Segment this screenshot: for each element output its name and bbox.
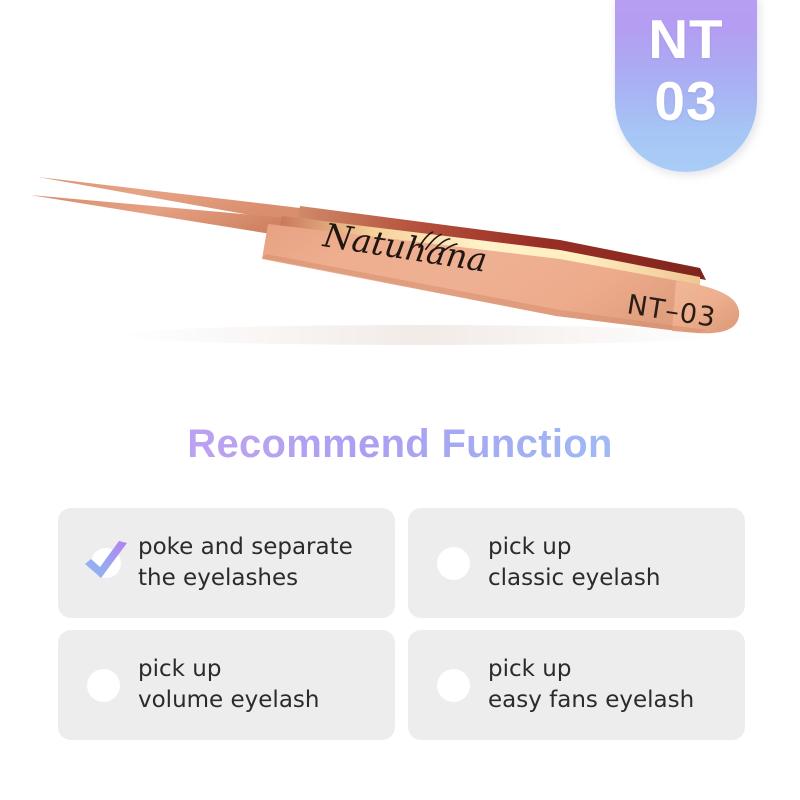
check-icon xyxy=(80,537,126,589)
dot-icon xyxy=(87,669,120,702)
option-label-line-2: volume eyelash xyxy=(138,685,319,716)
option-marker xyxy=(430,540,476,586)
option-marker xyxy=(80,662,126,708)
option-label-line-2: the eyelashes xyxy=(138,563,353,594)
option-label: pick up volume eyelash xyxy=(138,654,319,716)
option-label-line-1: pick up xyxy=(138,654,319,685)
model-badge-line-1: NT xyxy=(648,8,723,70)
option-label: pick up easy fans eyelash xyxy=(488,654,694,716)
option-card-poke-and-separate[interactable]: poke and separate the eyelashes xyxy=(58,508,395,618)
recommend-function-options: poke and separate the eyelashes pick up … xyxy=(58,508,745,740)
option-label: poke and separate the eyelashes xyxy=(138,532,353,594)
section-title: Recommend Function xyxy=(0,422,800,467)
option-label-line-2: classic eyelash xyxy=(488,563,660,594)
option-marker-selected xyxy=(80,540,126,586)
dot-icon xyxy=(437,669,470,702)
dot-icon xyxy=(437,547,470,580)
option-label-line-1: poke and separate xyxy=(138,532,353,563)
option-marker xyxy=(430,662,476,708)
option-label-line-1: pick up xyxy=(488,654,694,685)
option-label-line-2: easy fans eyelash xyxy=(488,685,694,716)
option-label-line-1: pick up xyxy=(488,532,660,563)
option-card-pick-up-easy-fans-eyelash[interactable]: pick up easy fans eyelash xyxy=(408,630,745,740)
product-image: Natuhana NT–03 xyxy=(0,120,800,410)
product-shadow xyxy=(120,325,720,345)
option-card-pick-up-classic-eyelash[interactable]: pick up classic eyelash xyxy=(408,508,745,618)
option-card-pick-up-volume-eyelash[interactable]: pick up volume eyelash xyxy=(58,630,395,740)
option-label: pick up classic eyelash xyxy=(488,532,660,594)
